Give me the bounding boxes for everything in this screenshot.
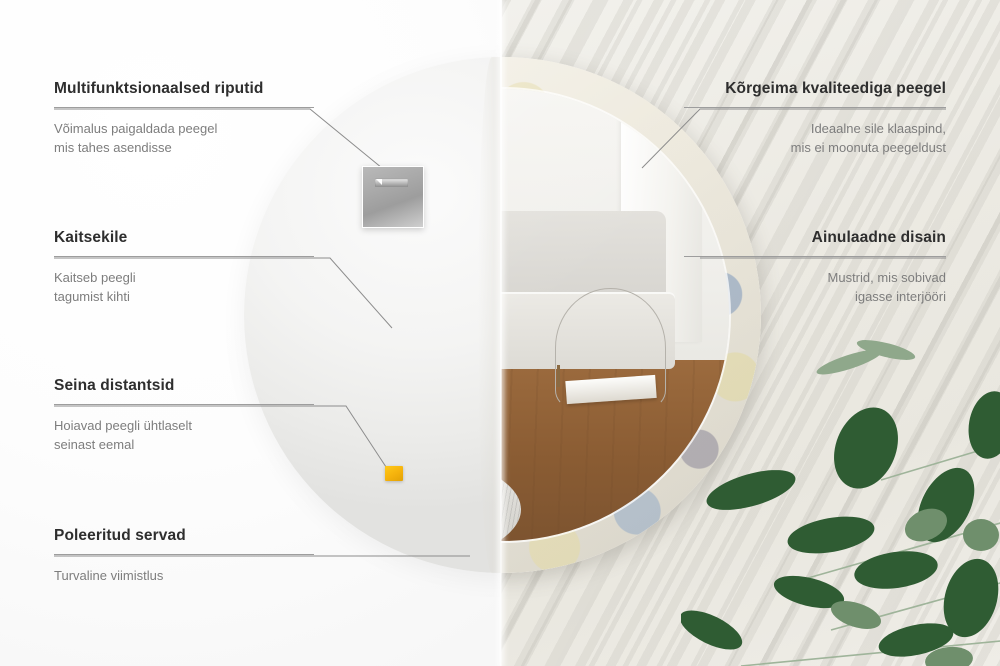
callout-title: Seina distantsid [54,377,314,395]
callout-korgeima-kvaliteediga-peegel: Kõrgeima kvaliteediga peegel Ideaalne si… [684,80,946,158]
callout-description: Hoiavad peegli ühtlaselt seinast eemal [54,417,314,455]
keyhole-hanger-plate [362,166,424,228]
callout-description: Kaitseb peegli tagumist kihti [54,269,314,307]
callout-rule [54,256,314,257]
callout-title: Ainulaadne disain [684,229,946,247]
callout-ainulaadne-disain: Ainulaadne disain Mustrid, mis sobivad i… [684,229,946,307]
callout-seina-distantsid: Seina distantsid Hoiavad peegli ühtlasel… [54,377,314,455]
callout-rule [684,107,946,108]
callout-title: Kaitsekile [54,229,314,247]
wall-spacer [385,466,403,481]
callout-poleeritud-servad: Poleeritud servad Turvaline viimistlus [54,527,314,586]
callout-description: Võimalus paigaldada peegel mis tahes ase… [54,120,314,158]
callout-description: Ideaalne sile klaaspind, mis ei moonuta … [684,120,946,158]
callout-kaitsekile: Kaitsekile Kaitseb peegli tagumist kihti [54,229,314,307]
keyhole-slot-icon [375,178,408,187]
callout-rule [54,107,314,108]
foliage-branches [681,330,1000,666]
panel-split-line [500,0,502,666]
frame-edge-shadow [478,57,501,573]
callout-rule [684,256,946,257]
callout-title: Poleeritud servad [54,527,314,545]
callout-multifunktsionaalsed-riputid: Multifunktsionaalsed riputid Võimalus pa… [54,80,314,158]
callout-title: Kõrgeima kvaliteediga peegel [684,80,946,98]
callout-description: Turvaline viimistlus [54,567,314,586]
callout-title: Multifunktsionaalsed riputid [54,80,314,98]
product-infographic: Multifunktsionaalsed riputid Võimalus pa… [0,0,1000,666]
callout-description: Mustrid, mis sobivad igasse interjööri [684,269,946,307]
callout-rule [54,554,314,555]
callout-rule [54,404,314,405]
